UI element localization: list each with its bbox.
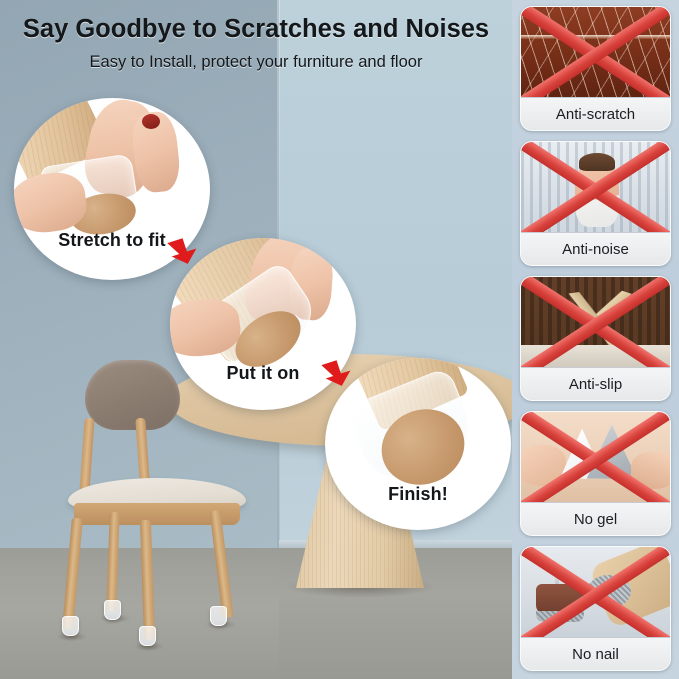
nail-in-pad [536,584,584,615]
benefit-image-anti-scratch [521,7,670,99]
person-hair [579,153,615,171]
chair-leg-back-left [106,512,119,612]
benefit-caption-anti-noise: Anti-noise [521,232,670,265]
leg-cap-back-right [210,606,227,626]
nail-pad-illustration [521,547,670,639]
leg-attached-pad [587,575,632,608]
toppling-chair-illustration [521,277,670,369]
page-title: Say Goodbye to Scratches and Noises [0,14,512,44]
step-finish: Finish! [325,358,511,530]
benefit-image-anti-noise [521,142,670,234]
chair-frame-2 [550,284,641,356]
benefit-caption-no-nail: No nail [521,637,670,670]
chair-backrest [85,360,180,430]
bedroom-illustration [521,142,670,234]
nail-polish [142,114,160,129]
benefit-panel-anti-noise: Anti-noise [520,141,671,266]
scratched-floor-illustration [521,7,670,99]
headline-block: Say Goodbye to Scratches and Noises Easy… [0,14,512,72]
benefits-sidebar: Anti-scratch Anti-noise [512,0,679,679]
benefit-caption-no-gel: No gel [521,502,670,535]
chair-leg-front-right [140,520,155,640]
chair-back-post-left [79,418,94,494]
chair-leg-back-right [209,510,233,619]
benefit-image-anti-slip [521,277,670,369]
infographic-root: Stretch to fit Put it on [0,0,679,679]
benefit-image-no-nail [521,547,670,639]
leg-cap-back-left [104,600,121,620]
step-finish-label: Finish! [325,484,511,505]
gel-pad-illustration [521,412,670,504]
leg-cap-front-left [62,616,79,636]
hand-left [521,445,566,485]
chair-leg-front-left [62,518,83,631]
benefit-panel-no-nail: No nail [520,546,671,671]
leg-cap-front-right [139,626,156,646]
pad-grit [536,611,584,621]
benefit-caption-anti-slip: Anti-slip [521,367,670,400]
benefit-image-no-gel [521,412,670,504]
product-scene: Stretch to fit Put it on [0,0,512,679]
benefit-panel-no-gel: No gel [520,411,671,536]
benefit-panel-anti-slip: Anti-slip [520,276,671,401]
hand-right [631,452,670,489]
benefit-caption-anti-scratch: Anti-scratch [521,97,670,130]
benefit-panel-anti-scratch: Anti-scratch [520,6,671,131]
page-subtitle: Easy to Install, protect your furniture … [0,53,512,72]
